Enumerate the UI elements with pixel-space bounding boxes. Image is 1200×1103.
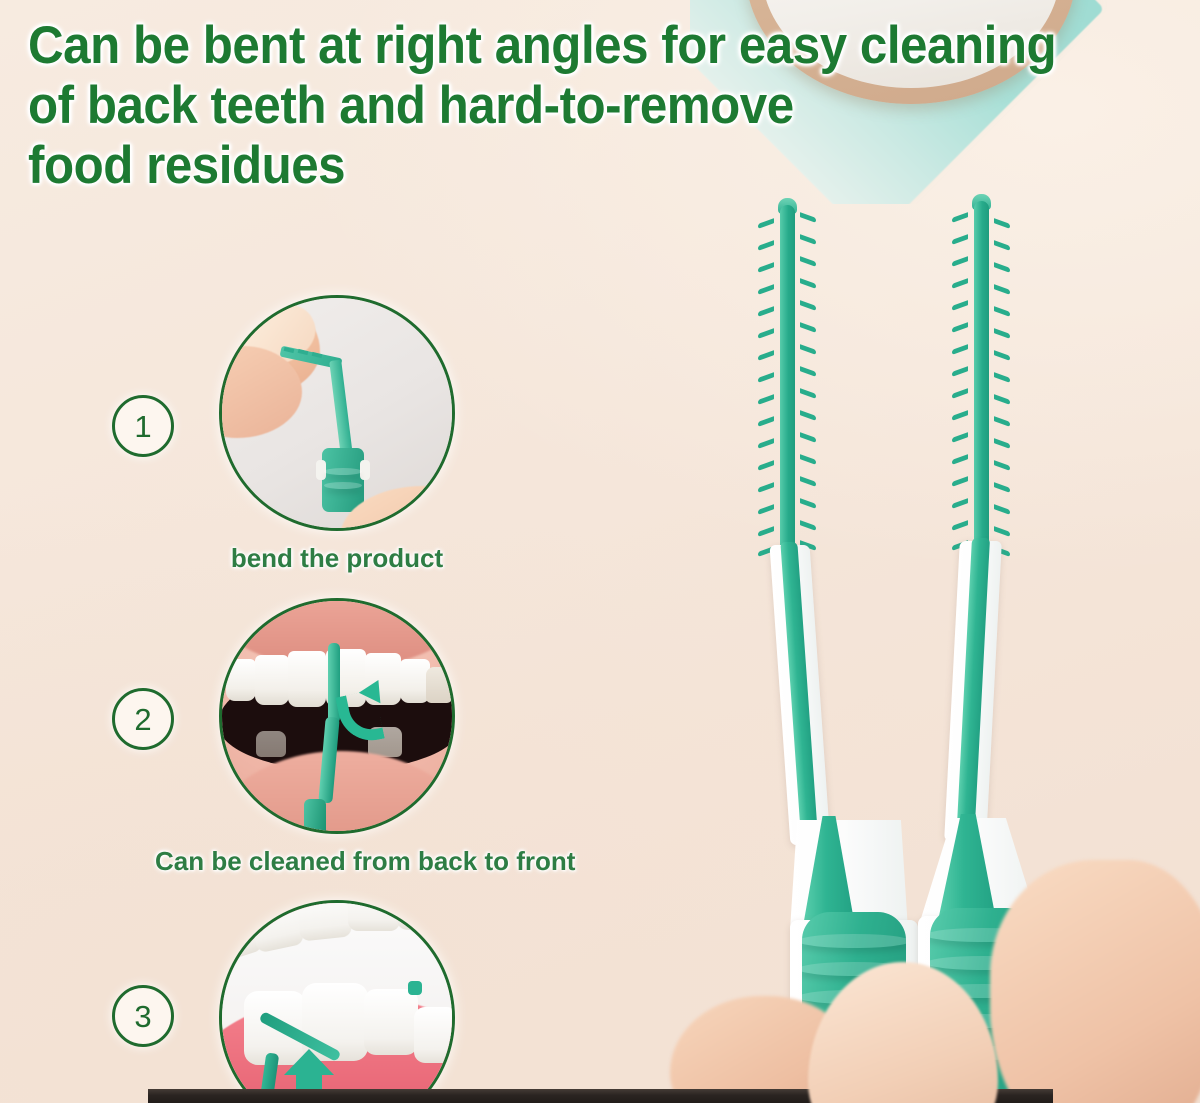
brush-tip-stem-right xyxy=(974,201,989,561)
step-1-badge: 1 xyxy=(112,395,174,457)
brush-tip-left xyxy=(772,205,802,565)
product-photo xyxy=(690,150,1200,1103)
step-2-badge: 2 xyxy=(112,688,174,750)
step-3-badge: 3 xyxy=(112,985,174,1047)
step-2-number: 2 xyxy=(134,704,151,735)
model-pick-far-tip xyxy=(408,981,422,995)
step-2-photo xyxy=(219,598,455,834)
model-direction-arrow-head xyxy=(284,1049,334,1075)
step-1-caption: bend the product xyxy=(219,543,455,574)
pick-in-mouth-grip xyxy=(304,799,326,834)
step-1-photo xyxy=(219,295,455,531)
brush-tip-right xyxy=(966,201,996,561)
step-3-number: 3 xyxy=(134,1001,151,1032)
step-2-caption: Can be cleaned from back to front xyxy=(155,846,519,877)
pick-grip xyxy=(322,448,364,512)
step-1-number: 1 xyxy=(134,411,151,442)
middle-finger xyxy=(990,860,1200,1103)
brush-tip-stem-left xyxy=(780,205,795,565)
step-3-photo xyxy=(219,900,455,1103)
product-advertisement-image: Can be bent at right angles for easy cle… xyxy=(0,0,1200,1103)
